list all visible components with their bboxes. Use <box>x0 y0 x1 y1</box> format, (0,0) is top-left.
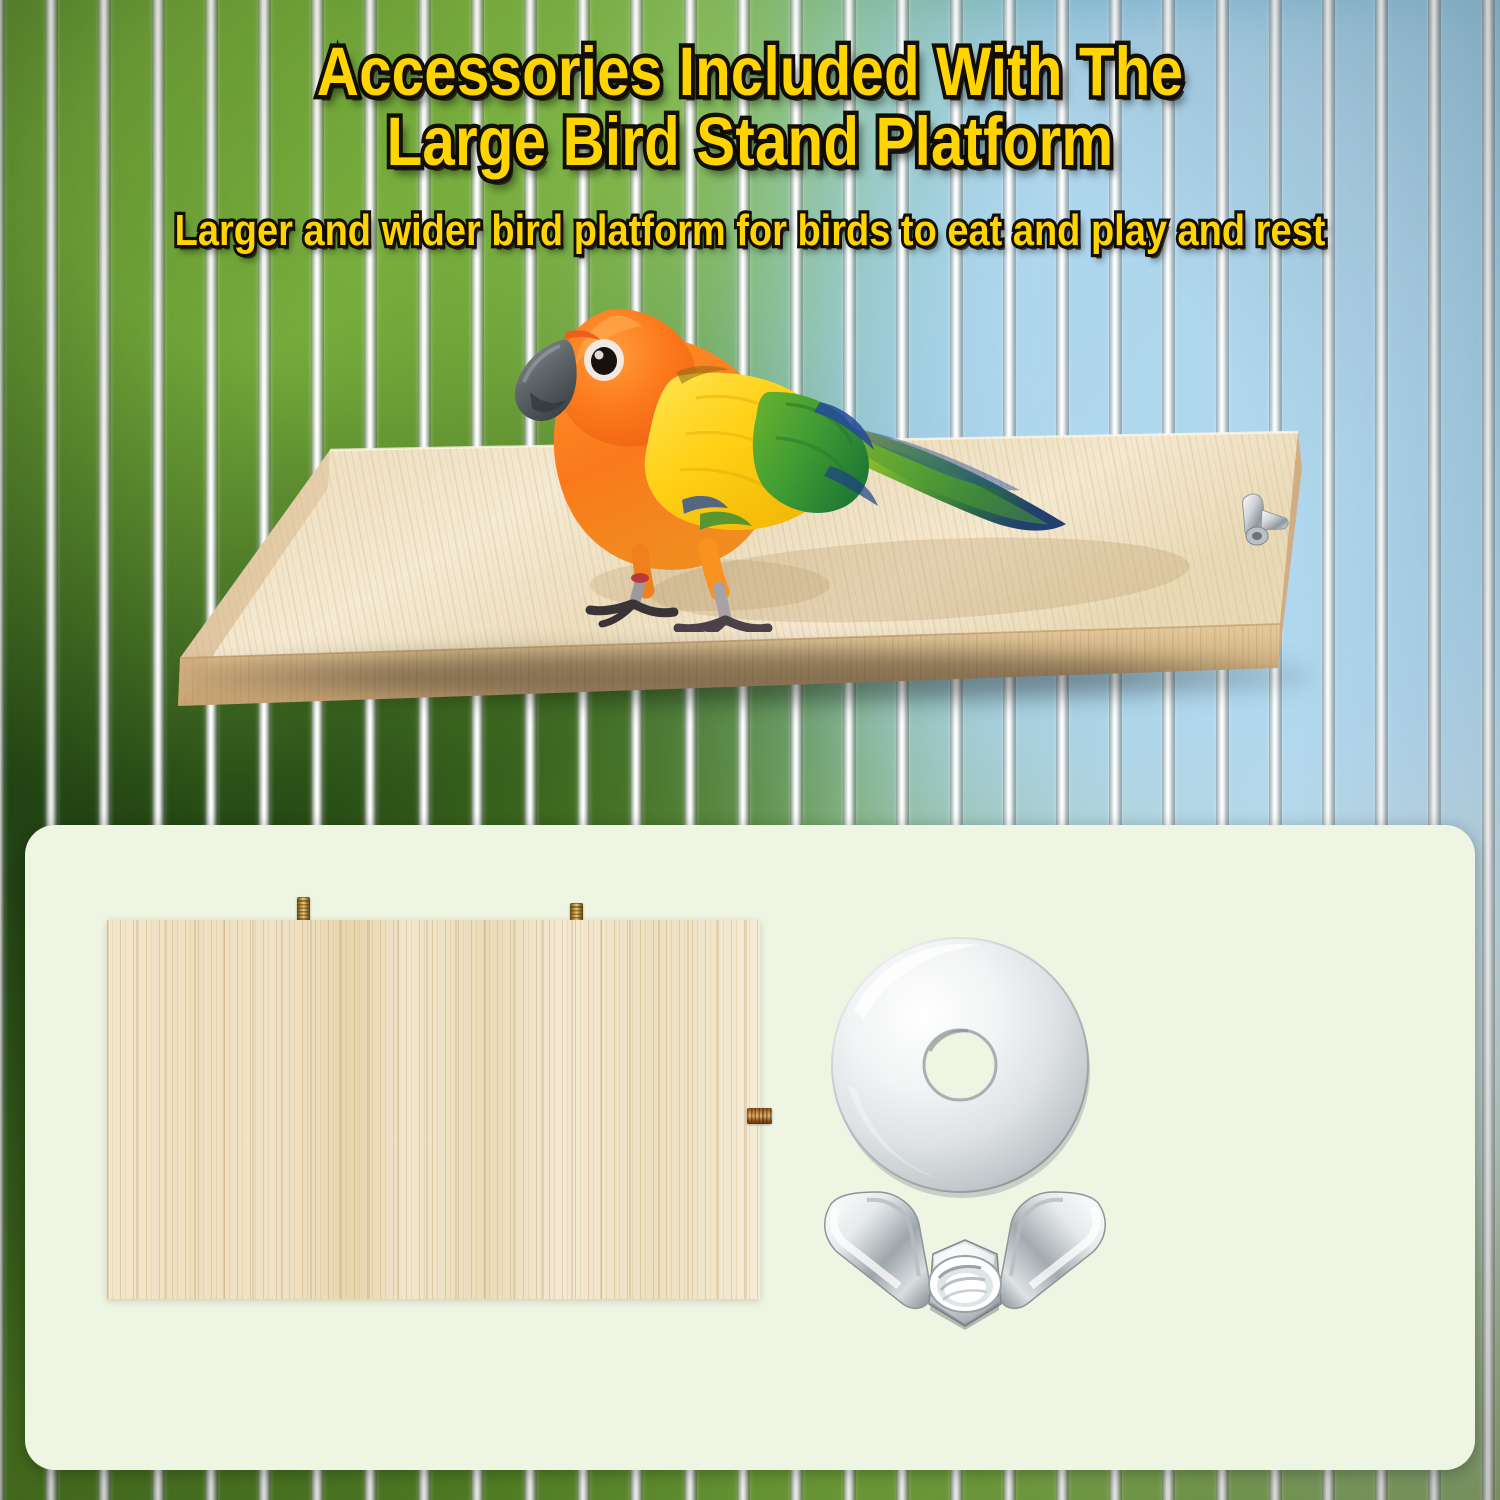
shim-washer-icon <box>820 925 1100 1205</box>
product-image-stage: Accessories Included With The Large Bird… <box>0 0 1500 1500</box>
board-bolt-right-icon <box>747 1108 772 1124</box>
platform-mount-wingnut-icon <box>1235 488 1293 560</box>
platform-shadow <box>190 646 1310 706</box>
sun-conure-parrot-illustration <box>500 252 1100 632</box>
board-wood-surface <box>107 920 760 1299</box>
accessories-panel <box>25 825 1475 1470</box>
wing-nut-icon <box>815 1180 1115 1365</box>
board-accessory <box>82 895 782 1307</box>
